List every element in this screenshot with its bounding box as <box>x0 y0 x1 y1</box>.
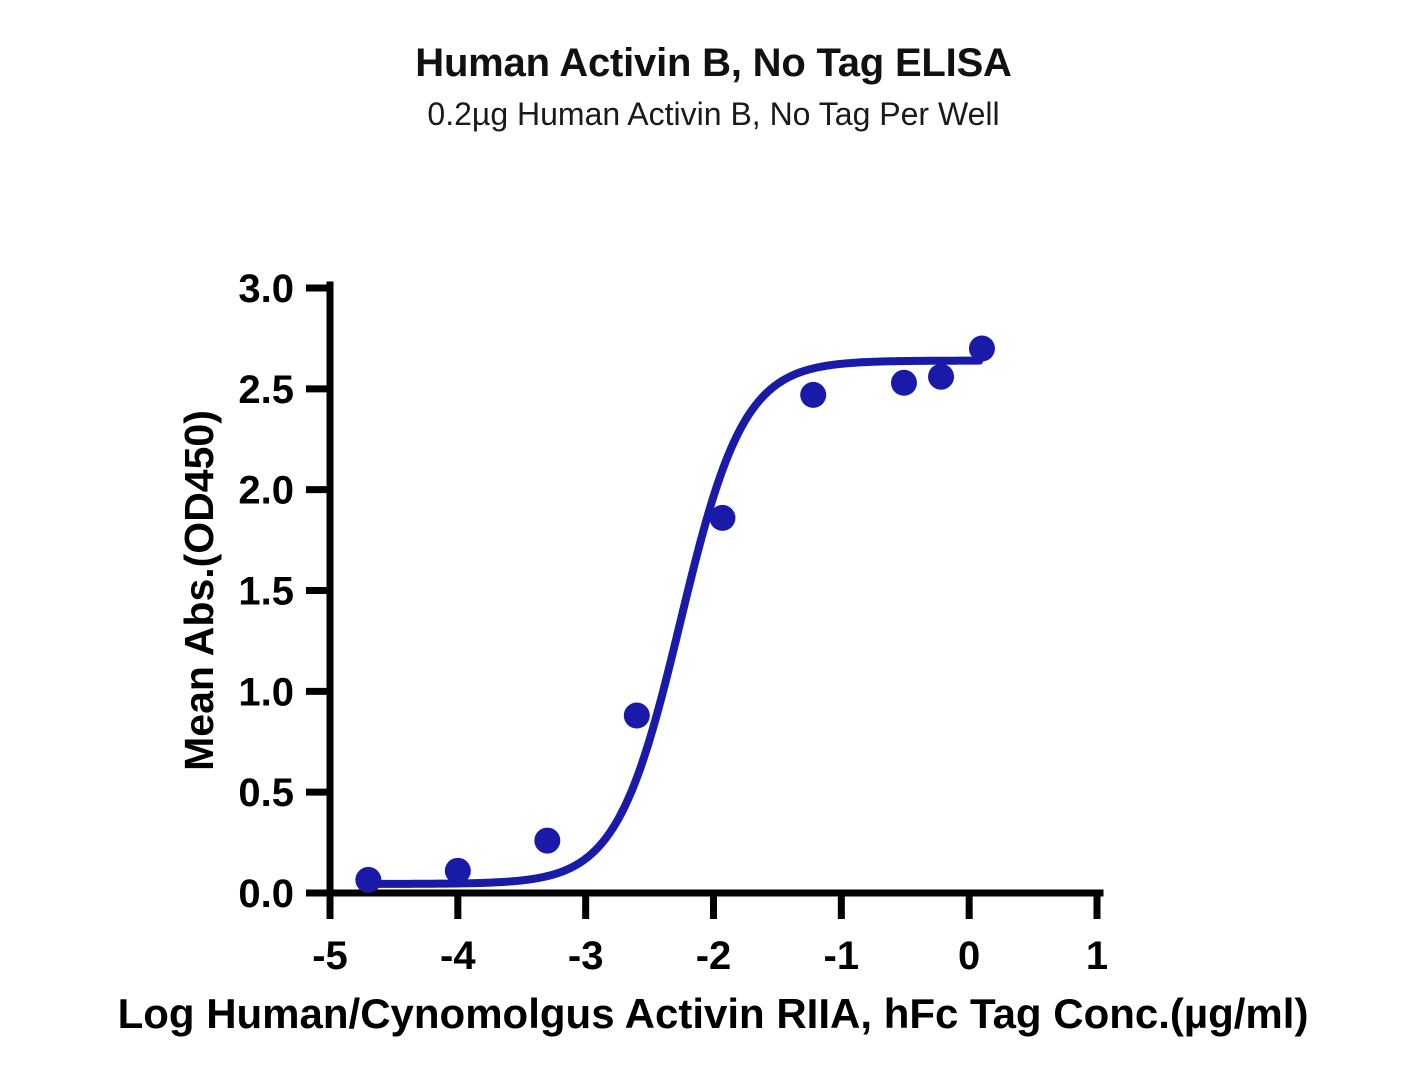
data-point <box>355 867 381 893</box>
x-tick-label: -2 <box>696 934 732 978</box>
data-point <box>800 382 826 408</box>
y-tick-label: 2.5 <box>238 368 294 412</box>
x-tick-labels: -5-4-3-2-101 <box>312 934 1108 978</box>
x-tick-label: 1 <box>1086 934 1108 978</box>
y-axis <box>306 285 330 893</box>
plot-area: 0.00.51.01.52.02.53.0 -5-4-3-2-101 Mean … <box>0 0 1427 1087</box>
x-tick-label: -3 <box>568 934 604 978</box>
data-point <box>891 370 917 396</box>
data-point <box>969 336 995 362</box>
data-point <box>445 858 471 884</box>
y-tick-label: 2.0 <box>238 469 294 513</box>
data-point <box>534 828 560 854</box>
chart-canvas: 0.00.51.01.52.02.53.0 -5-4-3-2-101 Mean … <box>0 0 1427 1087</box>
x-axis <box>327 893 1100 919</box>
data-point <box>709 505 735 531</box>
x-axis-title: Log Human/Cynomolgus Activin RIIA, hFc T… <box>118 990 1309 1037</box>
y-tick-label: 0.5 <box>238 771 294 815</box>
y-tick-label: 3.0 <box>238 267 294 311</box>
x-tick-label: -1 <box>824 934 860 978</box>
data-point <box>928 364 954 390</box>
y-tick-labels: 0.00.51.01.52.02.53.0 <box>238 267 294 916</box>
chart-figure: Human Activin B, No Tag ELISA 0.2µg Huma… <box>0 0 1427 1087</box>
fit-curve-line <box>368 361 979 884</box>
data-point-group <box>355 336 995 893</box>
data-point <box>624 703 650 729</box>
y-axis-title: Mean Abs.(OD450) <box>176 410 222 771</box>
y-tick-label: 1.5 <box>238 570 294 614</box>
x-tick-label: 0 <box>958 934 980 978</box>
x-tick-label: -4 <box>440 934 476 978</box>
y-tick-label: 0.0 <box>238 872 294 916</box>
x-tick-label: -5 <box>312 934 348 978</box>
y-tick-label: 1.0 <box>238 670 294 714</box>
